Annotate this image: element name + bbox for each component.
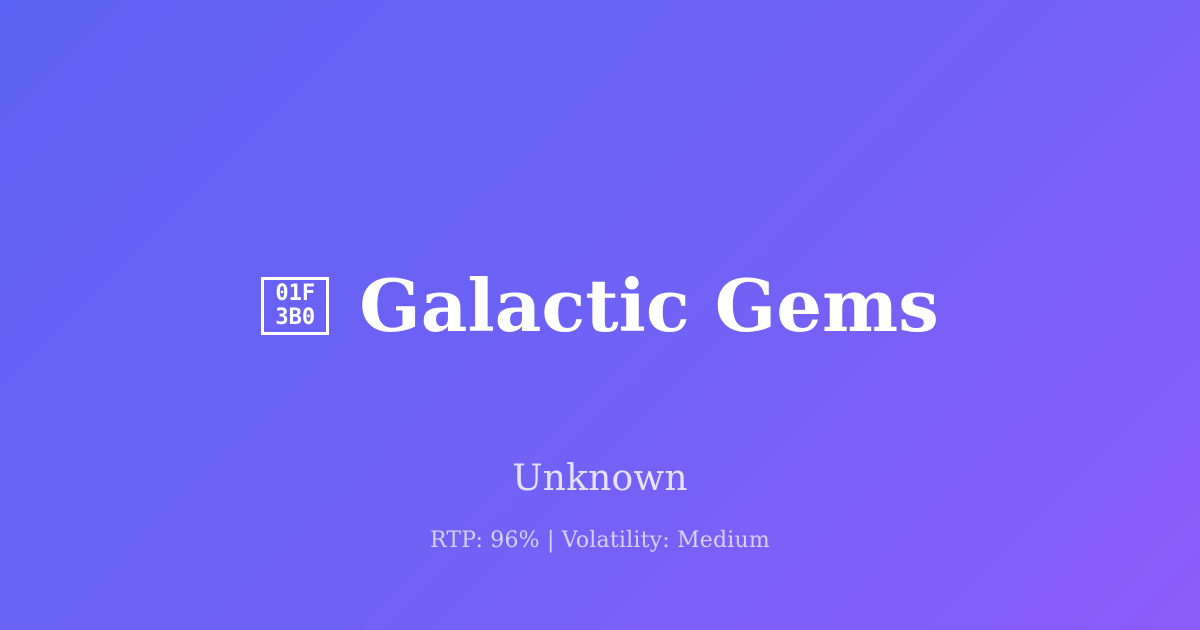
tofu-codepoint-top: 01F bbox=[275, 282, 315, 306]
hero-block: 01F 3B0 Galactic Gems Unknown bbox=[0, 222, 1200, 499]
tofu-codepoint-bottom: 3B0 bbox=[275, 306, 315, 330]
slot-machine-icon: 01F 3B0 bbox=[261, 277, 329, 335]
page-subtitle: Unknown bbox=[512, 458, 688, 499]
og-card: 01F 3B0 Galactic Gems Unknown RTP: 96% |… bbox=[0, 0, 1200, 630]
page-title: Galactic Gems bbox=[359, 270, 939, 342]
meta-footer: RTP: 96% | Volatility: Medium bbox=[0, 528, 1200, 553]
title-row: 01F 3B0 Galactic Gems bbox=[261, 222, 939, 390]
